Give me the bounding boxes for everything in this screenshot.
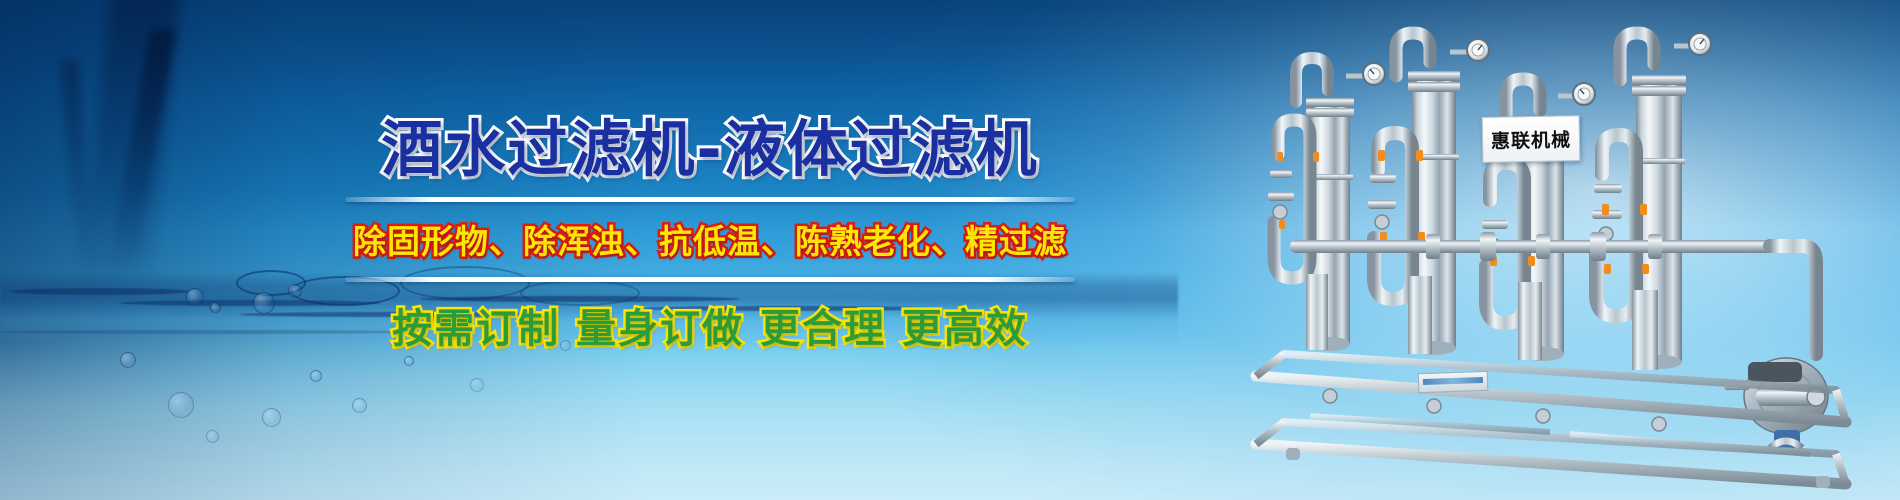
banner-text-block: 酒水过滤机-液体过滤机 除固形物、除浑浊、抗低温、陈熟老化、精过滤 按需订制 量… (330, 118, 1090, 354)
features-divider (345, 277, 1075, 282)
water-bubble-icon (288, 284, 302, 298)
filter-vessel-2 (1368, 33, 1489, 355)
filtration-machine-svg (1250, 24, 1870, 494)
brand-nameplate: 惠联机械 (1482, 115, 1581, 163)
brand-nameplate-text: 惠联机械 (1491, 125, 1571, 153)
splash-streak-icon (10, 288, 190, 295)
machine-sticker (1418, 371, 1489, 393)
filtration-machine-image: 惠联机械 (1250, 24, 1870, 494)
product-banner: 酒水过滤机-液体过滤机 除固形物、除浑浊、抗低温、陈熟老化、精过滤 按需订制 量… (0, 0, 1900, 500)
service-subtitle: 按需订制 量身订做 更合理 更高效 (330, 296, 1090, 354)
features-subtitle: 除固形物、除浑浊、抗低温、陈熟老化、精过滤 (330, 215, 1090, 263)
water-bubble-icon (186, 288, 204, 306)
filter-vessel-4 (1592, 33, 1711, 370)
pump-unit (1724, 358, 1828, 448)
title-divider (345, 197, 1075, 202)
water-bubble-icon (253, 292, 275, 314)
filter-vessel-1 (1268, 58, 1385, 351)
page-title: 酒水过滤机-液体过滤机 (330, 118, 1090, 183)
water-bubble-icon (210, 302, 221, 313)
